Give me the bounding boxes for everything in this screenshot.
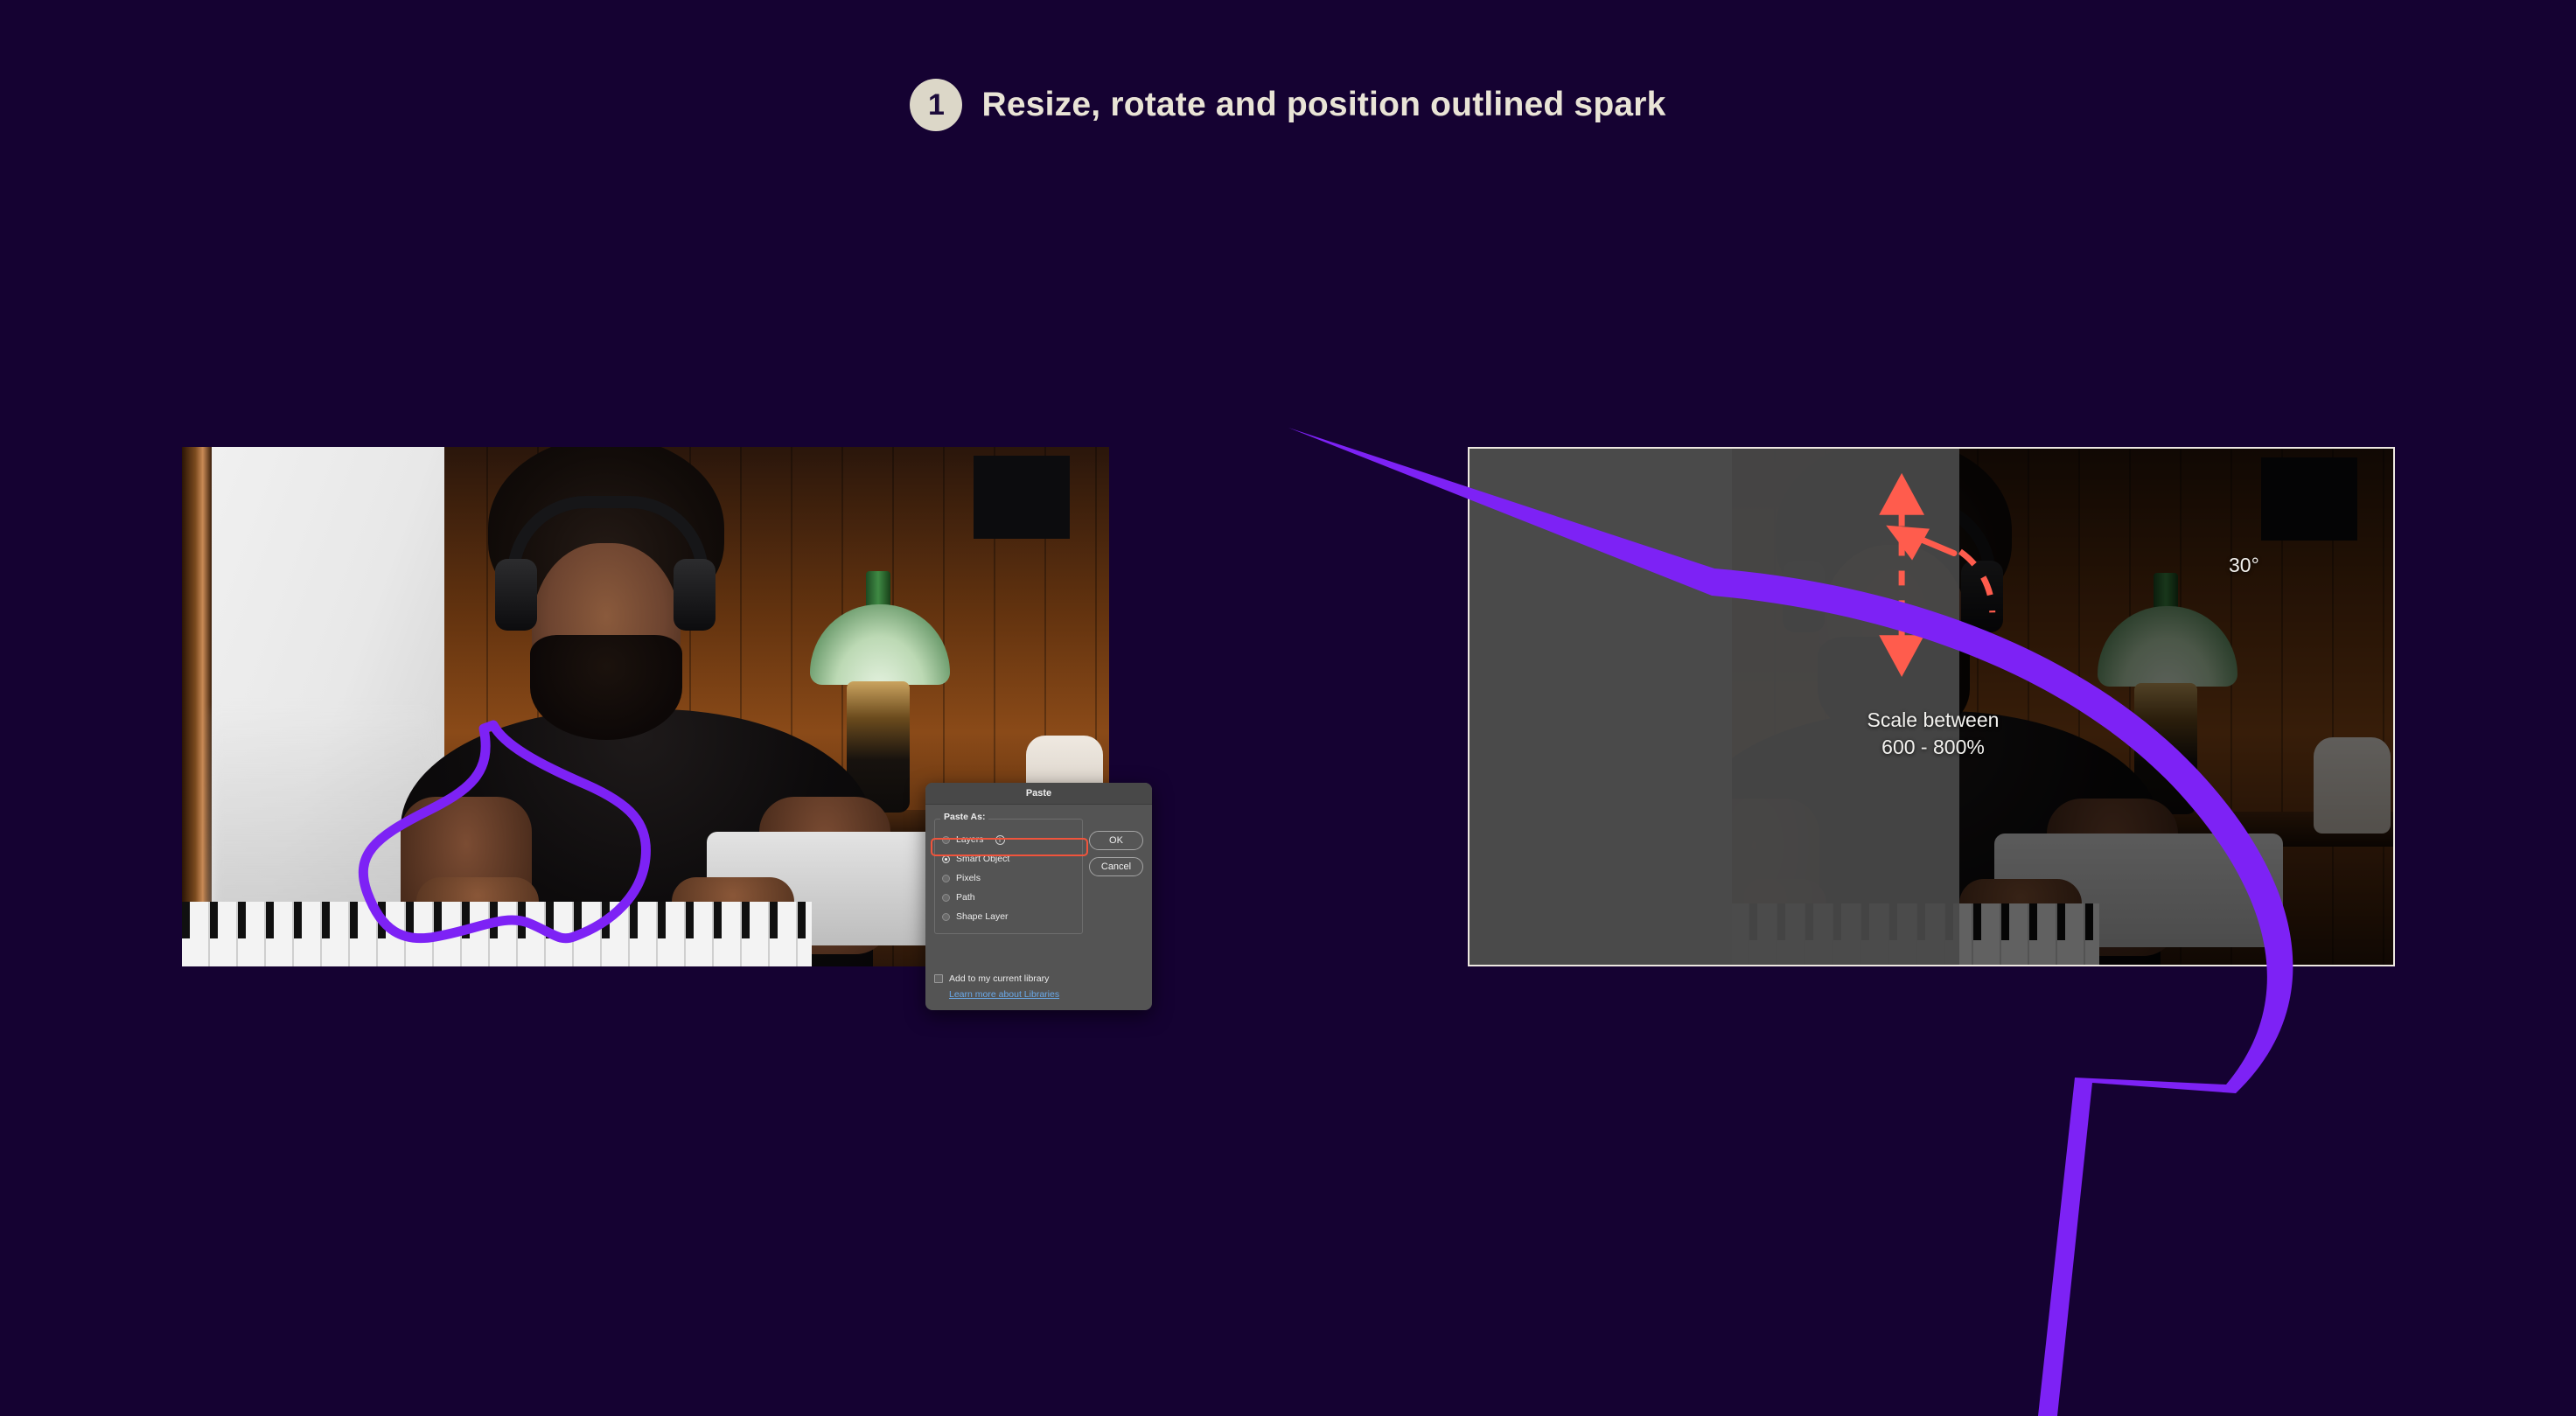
cancel-button[interactable]: Cancel <box>1089 857 1143 876</box>
dialog-titlebar: Paste <box>925 783 1152 805</box>
radio-label: Path <box>956 892 975 903</box>
radio-icon[interactable] <box>942 875 950 882</box>
ok-button[interactable]: OK <box>1089 831 1143 850</box>
paste-dialog[interactable]: Paste Paste As: Layers i Smart Object Pi… <box>925 783 1152 1010</box>
angle-label: 30° <box>2229 554 2259 577</box>
headphone-cup-right <box>674 559 716 631</box>
add-to-library-checkbox-row[interactable]: Add to my current library <box>934 973 1059 984</box>
radio-label: Shape Layer <box>956 911 1009 922</box>
paste-as-group: Paste As: Layers i Smart Object Pixels <box>934 819 1083 934</box>
page-title: Resize, rotate and position outlined spa… <box>981 86 1665 124</box>
dialog-footer: Add to my current library Learn more abo… <box>934 973 1059 1000</box>
radio-label: Pixels <box>956 873 981 883</box>
slide-canvas: 1 Resize, rotate and position outlined s… <box>0 0 2576 1416</box>
slide-header: 1 Resize, rotate and position outlined s… <box>0 79 2576 131</box>
dialog-buttons: OK Cancel <box>1089 831 1143 883</box>
radio-option-pixels[interactable]: Pixels <box>942 868 1075 888</box>
scale-line-2: 600 - 800% <box>1846 734 2021 761</box>
dialog-body: Paste As: Layers i Smart Object Pixels <box>925 805 1152 941</box>
smart-object-highlight-box <box>931 838 1088 856</box>
paste-as-label: Paste As: <box>940 812 988 822</box>
checkbox-label: Add to my current library <box>949 973 1049 984</box>
subject-beard <box>530 635 682 740</box>
gray-overlay-window <box>1470 449 1732 966</box>
scale-guidance-label: Scale between 600 - 800% <box>1846 707 2021 761</box>
learn-more-link[interactable]: Learn more about Libraries <box>949 989 1059 1000</box>
step-number-badge: 1 <box>910 79 962 131</box>
checkbox-icon[interactable] <box>934 974 943 983</box>
keyboard-keys <box>182 902 812 966</box>
radio-icon[interactable] <box>942 894 950 902</box>
radio-option-path[interactable]: Path <box>942 888 1075 907</box>
scale-line-1: Scale between <box>1846 707 2021 734</box>
headphone-cup-left <box>495 559 537 631</box>
window-frame <box>182 447 212 966</box>
radio-option-shape-layer[interactable]: Shape Layer <box>942 907 1075 926</box>
radio-icon[interactable] <box>942 913 950 921</box>
